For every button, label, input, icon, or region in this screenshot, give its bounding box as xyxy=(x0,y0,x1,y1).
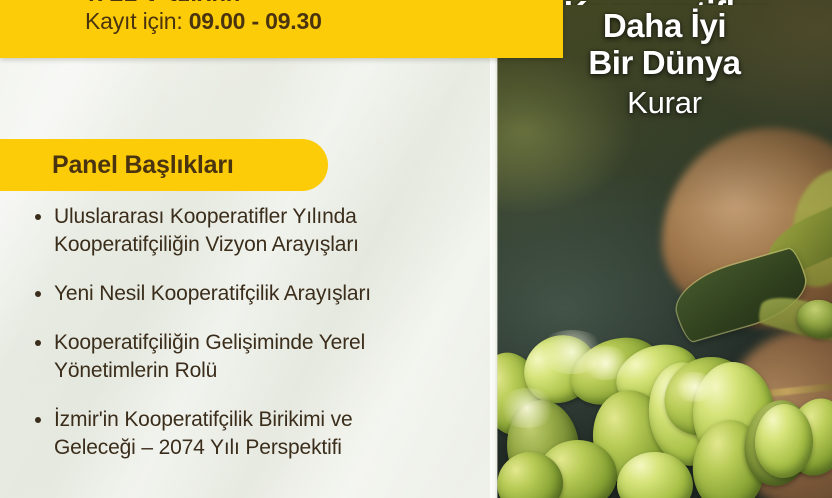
olive-photo xyxy=(497,0,832,498)
panel-photo-seam xyxy=(490,58,498,498)
bullet-dot-icon xyxy=(35,214,41,220)
registration-label: Kayıt için: xyxy=(85,8,183,34)
registration-line: Kayıt için: 09.00 - 09.30 xyxy=(85,8,322,35)
list-item: Kooperatifçiliğin Gelişiminde YerelYönet… xyxy=(30,329,478,385)
registration-time: 09.00 - 09.30 xyxy=(189,8,322,34)
panel-topic-list: Uluslararası Kooperatifler YılındaKooper… xyxy=(30,203,478,461)
list-item-line: Yönetimlerin Rolü xyxy=(54,357,478,385)
list-item: İzmir'in Kooperatifçilik Birikimi veGele… xyxy=(30,406,478,462)
list-item: Uluslararası Kooperatifler YılındaKooper… xyxy=(30,203,478,259)
list-item-line: İzmir'in Kooperatifçilik Birikimi ve xyxy=(54,406,478,434)
panel-titles-badge-label: Panel Başlıkları xyxy=(52,139,234,191)
panel-titles-badge: Panel Başlıkları xyxy=(0,139,328,191)
header-clipped-line: İZFAŞ Salonu xyxy=(88,0,240,1)
list-item-line: Kooperatifçiliğin Vizyon Arayışları xyxy=(54,231,478,259)
poster-canvas: Kooperatifler Daha İyi Bir Dünya Kurar İ… xyxy=(0,0,832,498)
bullet-dot-icon xyxy=(35,291,41,297)
bullet-dot-icon xyxy=(35,417,41,423)
olive-cluster xyxy=(497,0,832,498)
header-band: İZFAŞ Salonu Kayıt için: 09.00 - 09.30 xyxy=(0,0,563,58)
list-item-line: Uluslararası Kooperatifler Yılında xyxy=(54,203,478,231)
list-item-line: Yeni Nesil Kooperatifçilik Arayışları xyxy=(54,280,478,308)
list-item-line: Kooperatifçiliğin Gelişiminde Yerel xyxy=(54,329,478,357)
bullet-dot-icon xyxy=(35,340,41,346)
list-item-line: Geleceği – 2074 Yılı Perspektifi xyxy=(54,434,478,462)
list-item: Yeni Nesil Kooperatifçilik Arayışları xyxy=(30,280,478,308)
